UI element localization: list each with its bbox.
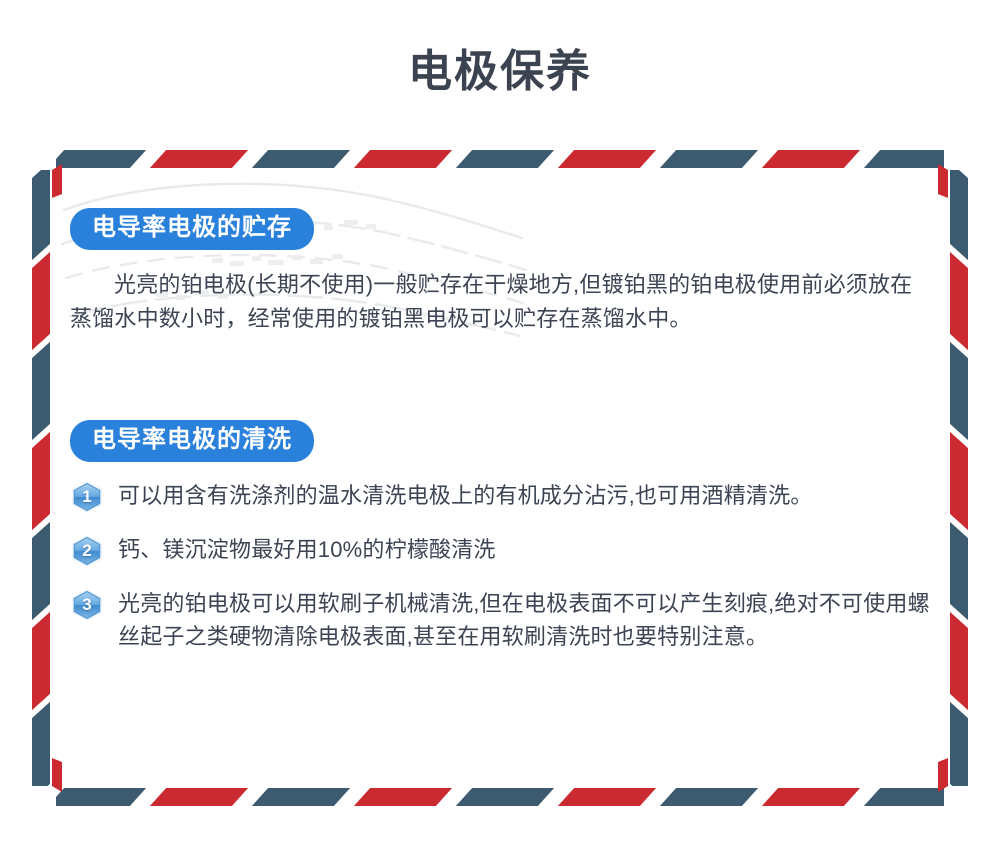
list-item-text: 光亮的铂电极可以用软刷子机械清洗,但在电极表面不可以产生刻痕,绝对不可使用螺丝起… <box>118 586 930 653</box>
airmail-stripe-segment <box>354 788 452 806</box>
envelope-card: 电导率电极的贮存 光亮的铂电极(长期不使用)一般贮存在干燥地方,但镀铂黑的铂电极… <box>30 148 970 808</box>
page-title: 电极保养 <box>0 48 1000 96</box>
airmail-stripe-segment <box>150 150 248 168</box>
airmail-stripe-segment <box>456 150 554 168</box>
airmail-stripe-segment <box>660 150 758 168</box>
airmail-stripe-segment <box>354 150 452 168</box>
airmail-stripe-segment <box>762 788 860 806</box>
airmail-stripe-segment <box>950 252 968 350</box>
airmail-stripe-segment <box>660 788 758 806</box>
list-item-number: 3 <box>70 588 104 622</box>
hexagon-number-badge-icon: 3 <box>70 588 104 622</box>
airmail-stripe-segment <box>950 702 968 786</box>
airmail-stripe-segment <box>32 170 50 260</box>
airmail-stripe-segment <box>558 788 656 806</box>
hexagon-number-badge-icon: 2 <box>70 534 104 568</box>
airmail-stripe-segment <box>456 788 554 806</box>
cleaning-steps-list: 1 可以用含有洗涤剂的温水清洗电极上的有机成分沾污,也可用酒精清洗。 2 钙、镁… <box>70 478 930 653</box>
hexagon-number-badge-icon: 1 <box>70 480 104 514</box>
airmail-stripe-segment <box>950 522 968 620</box>
airmail-stripe-segment <box>150 788 248 806</box>
section-heading-cleaning: 电导率电极的清洗 <box>70 420 314 462</box>
airmail-border-bottom <box>56 786 944 808</box>
airmail-stripe-segment <box>32 522 50 620</box>
airmail-stripe-segment <box>950 170 968 260</box>
airmail-stripe-segment <box>950 342 968 440</box>
airmail-stripe-segment <box>32 432 50 530</box>
airmail-stripe-segment <box>558 150 656 168</box>
section-cleaning: 电导率电极的清洗 <box>70 420 930 671</box>
airmail-stripe-segment <box>252 788 350 806</box>
airmail-border-top <box>56 148 944 170</box>
storage-paragraph: 光亮的铂电极(长期不使用)一般贮存在干燥地方,但镀铂黑的铂电极使用前必须放在蒸馏… <box>70 268 930 338</box>
airmail-border-left <box>30 170 52 786</box>
airmail-stripe-segment <box>950 612 968 710</box>
section-storage: 电导率电极的贮存 光亮的铂电极(长期不使用)一般贮存在干燥地方,但镀铂黑的铂电极… <box>70 208 930 337</box>
list-item-number: 2 <box>70 534 104 568</box>
section-heading-storage: 电导率电极的贮存 <box>70 208 314 250</box>
list-item: 1 可以用含有洗涤剂的温水清洗电极上的有机成分沾污,也可用酒精清洗。 <box>70 478 930 514</box>
list-item-number: 1 <box>70 480 104 514</box>
list-item-text: 可以用含有洗涤剂的温水清洗电极上的有机成分沾污,也可用酒精清洗。 <box>118 478 813 512</box>
airmail-stripe-segment <box>32 252 50 350</box>
airmail-stripe-segment <box>950 432 968 530</box>
airmail-stripe-segment <box>32 702 50 786</box>
airmail-stripe-segment <box>762 150 860 168</box>
list-item: 3 光亮的铂电极可以用软刷子机械清洗,但在电极表面不可以产生刻痕,绝对不可使用螺… <box>70 586 930 653</box>
airmail-stripe-segment <box>252 150 350 168</box>
list-item-text: 钙、镁沉淀物最好用10%的柠檬酸清洗 <box>118 532 496 566</box>
list-item: 2 钙、镁沉淀物最好用10%的柠檬酸清洗 <box>70 532 930 568</box>
airmail-stripe-segment <box>32 342 50 440</box>
airmail-stripe-segment <box>32 612 50 710</box>
card-content: 电导率电极的贮存 光亮的铂电极(长期不使用)一般贮存在干燥地方,但镀铂黑的铂电极… <box>70 188 930 768</box>
airmail-border-right <box>948 170 970 786</box>
